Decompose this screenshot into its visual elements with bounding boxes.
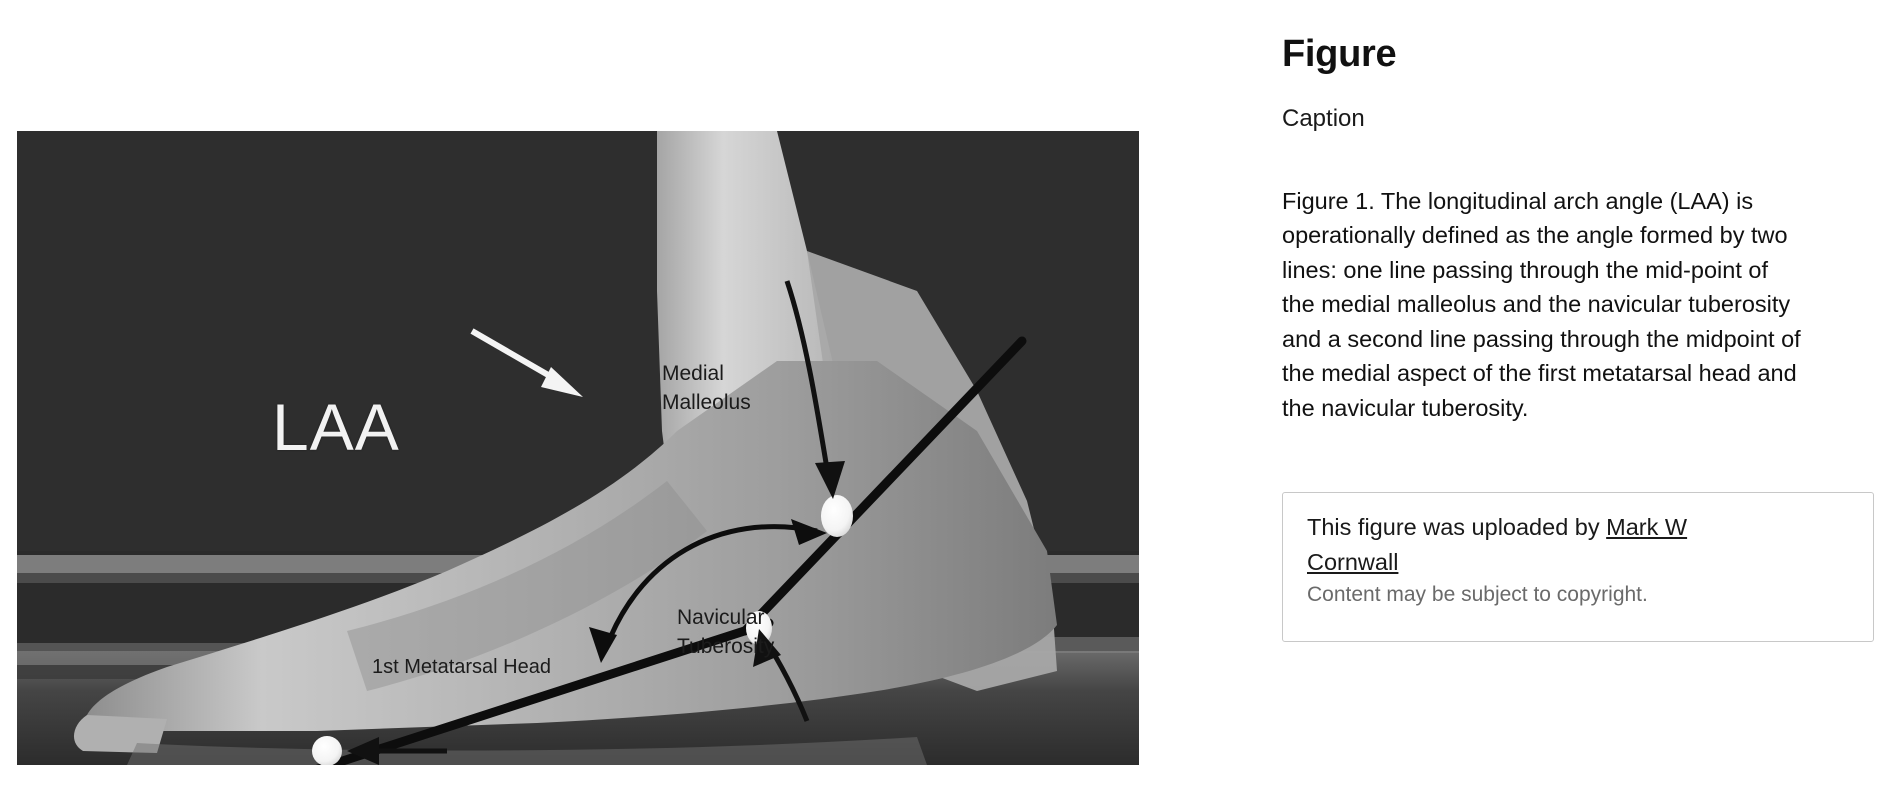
- upload-attribution-box: This figure was uploaded by Mark W Cornw…: [1282, 492, 1874, 642]
- upload-attribution-text: This figure was uploaded by Mark W Cornw…: [1307, 510, 1747, 580]
- copyright-note: Content may be subject to copyright.: [1307, 583, 1648, 607]
- caption-label: Caption: [1282, 105, 1365, 133]
- figure-photograph[interactable]: LAA Medial Malleolus Navicular Tuberosit…: [17, 131, 1139, 765]
- page-title: Figure: [1282, 33, 1396, 76]
- caption-text: Figure 1. The longitudinal arch angle (L…: [1282, 184, 1807, 426]
- caption-pane: Figure Caption Figure 1. The longitudina…: [1268, 0, 1904, 802]
- figure-page: LAA Medial Malleolus Navicular Tuberosit…: [0, 0, 1904, 802]
- upload-prefix-text: This figure was uploaded by: [1307, 514, 1606, 540]
- foot-photograph-graphic: [17, 131, 1139, 765]
- figure-image-pane: LAA Medial Malleolus Navicular Tuberosit…: [0, 0, 1260, 802]
